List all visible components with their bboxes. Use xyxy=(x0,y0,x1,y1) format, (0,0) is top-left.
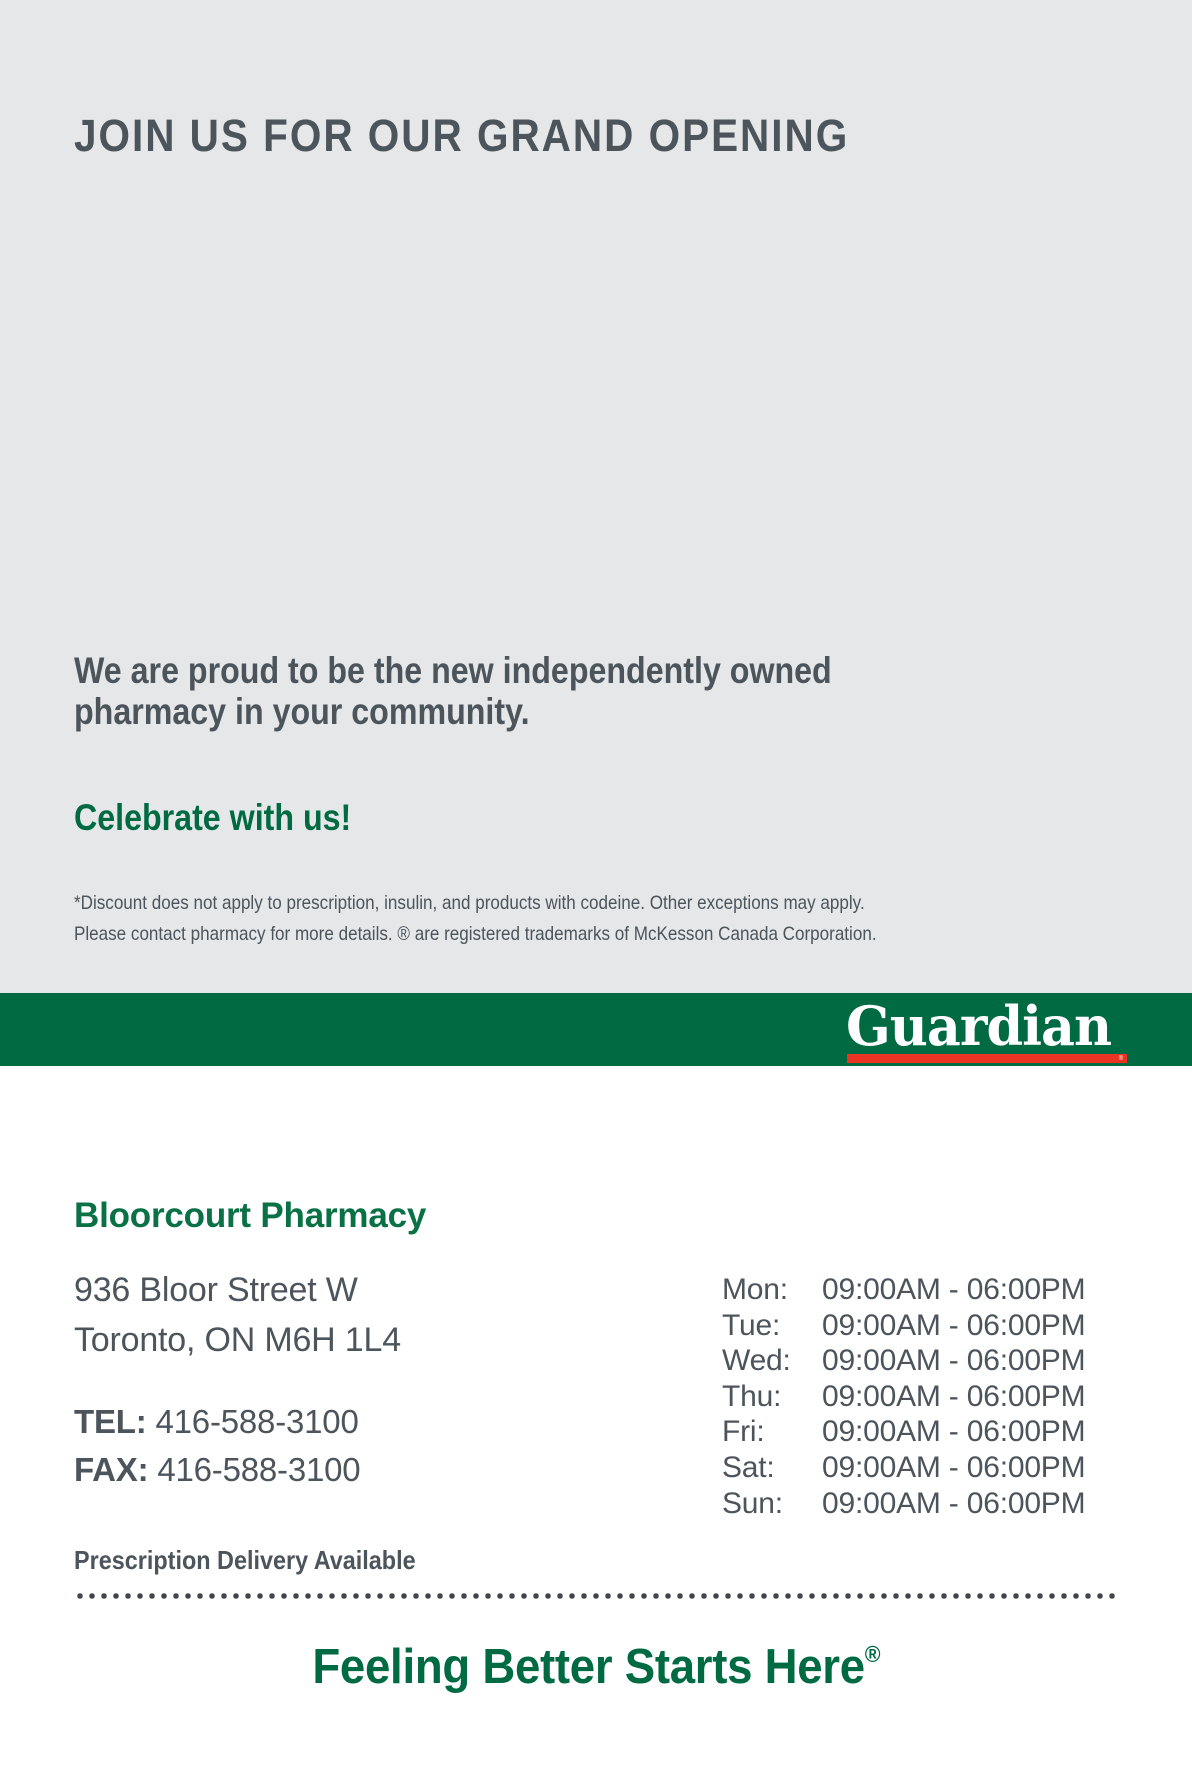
store-name: Bloorcourt Pharmacy xyxy=(74,1196,426,1236)
disclaimer-line-1: *Discount does not apply to prescription… xyxy=(74,888,1012,919)
hours-day: Sun: xyxy=(722,1486,822,1522)
promo-panel: JOIN US FOR OUR GRAND OPENING We are pro… xyxy=(0,0,1192,993)
guardian-red-rule xyxy=(847,1054,1127,1063)
fax-value: 416-588-3100 xyxy=(157,1451,360,1488)
celebrate-headline: Celebrate with us! xyxy=(74,798,351,839)
tagline-registered-icon: ® xyxy=(864,1641,879,1667)
hours-time: 09:00AM - 06:00PM xyxy=(822,1343,1085,1379)
telephone-label: TEL: xyxy=(74,1403,147,1440)
fax-row: FAX: 416-588-3100 xyxy=(74,1446,360,1494)
hours-row: Sat: 09:00AM - 06:00PM xyxy=(722,1450,1085,1486)
store-address: 936 Bloor Street W Toronto, ON M6H 1L4 xyxy=(74,1265,401,1366)
hours-time: 09:00AM - 06:00PM xyxy=(822,1414,1085,1450)
page-title: JOIN US FOR OUR GRAND OPENING xyxy=(74,113,849,158)
hours-day: Thu: xyxy=(722,1379,822,1415)
brand-tagline: Feeling Better Starts Here® xyxy=(0,1639,1192,1695)
registered-trademark-icon: ® xyxy=(1117,1055,1125,1063)
delivery-note: Prescription Delivery Available xyxy=(74,1545,416,1576)
hours-time: 09:00AM - 06:00PM xyxy=(822,1486,1085,1522)
hours-day: Fri: xyxy=(722,1414,822,1450)
guardian-logo: Guardian ® xyxy=(846,997,1128,1063)
brand-band: Guardian ® xyxy=(0,993,1192,1066)
hours-row: Tue: 09:00AM - 06:00PM xyxy=(722,1308,1085,1344)
telephone-row: TEL: 416-588-3100 xyxy=(74,1398,360,1446)
address-line-1: 936 Bloor Street W xyxy=(74,1265,401,1315)
hours-day: Mon: xyxy=(722,1272,822,1308)
hours-row: Sun: 09:00AM - 06:00PM xyxy=(722,1486,1085,1522)
hours-row: Thu: 09:00AM - 06:00PM xyxy=(722,1379,1085,1415)
hours-day: Sat: xyxy=(722,1450,822,1486)
lead-paragraph: We are proud to be the new independently… xyxy=(74,650,953,733)
disclaimer: *Discount does not apply to prescription… xyxy=(74,888,1012,950)
grand-opening-flyer: JOIN US FOR OUR GRAND OPENING We are pro… xyxy=(0,0,1192,1785)
store-hours: Mon: 09:00AM - 06:00PM Tue: 09:00AM - 06… xyxy=(722,1272,1085,1521)
address-line-2: Toronto, ON M6H 1L4 xyxy=(74,1315,401,1365)
telephone-value[interactable]: 416-588-3100 xyxy=(155,1403,358,1440)
dotted-divider xyxy=(74,1593,1118,1599)
guardian-wordmark: Guardian xyxy=(846,997,1120,1055)
hours-day: Wed: xyxy=(722,1343,822,1379)
disclaimer-line-2: Please contact pharmacy for more details… xyxy=(74,919,1012,950)
hours-time: 09:00AM - 06:00PM xyxy=(822,1450,1085,1486)
hours-day: Tue: xyxy=(722,1308,822,1344)
hero-image-placeholder xyxy=(74,200,1118,560)
tagline-text: Feeling Better Starts Here xyxy=(312,1640,864,1694)
fax-label: FAX: xyxy=(74,1451,148,1488)
hours-time: 09:00AM - 06:00PM xyxy=(822,1379,1085,1415)
hours-row: Wed: 09:00AM - 06:00PM xyxy=(722,1343,1085,1379)
store-contact: TEL: 416-588-3100 FAX: 416-588-3100 xyxy=(74,1398,360,1494)
hours-time: 09:00AM - 06:00PM xyxy=(822,1308,1085,1344)
hours-row: Fri: 09:00AM - 06:00PM xyxy=(722,1414,1085,1450)
hours-time: 09:00AM - 06:00PM xyxy=(822,1272,1085,1308)
hours-row: Mon: 09:00AM - 06:00PM xyxy=(722,1272,1085,1308)
